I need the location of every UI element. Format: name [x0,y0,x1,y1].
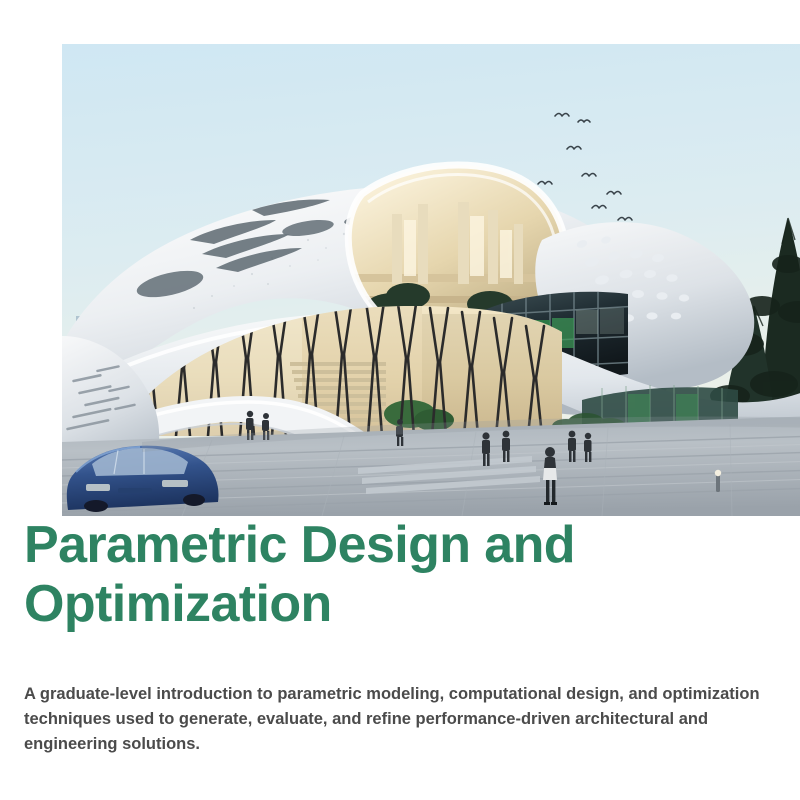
course-text-block: Parametric Design and Optimization A gra… [24,516,776,634]
course-description: A graduate-level introduction to paramet… [24,682,776,757]
page-title: Parametric Design and Optimization [24,516,664,634]
hero-image: Architectural visualization of a white f… [62,44,800,516]
architecture-render-svg [62,44,800,516]
course-hero-page: Architectural visualization of a white f… [0,0,800,800]
